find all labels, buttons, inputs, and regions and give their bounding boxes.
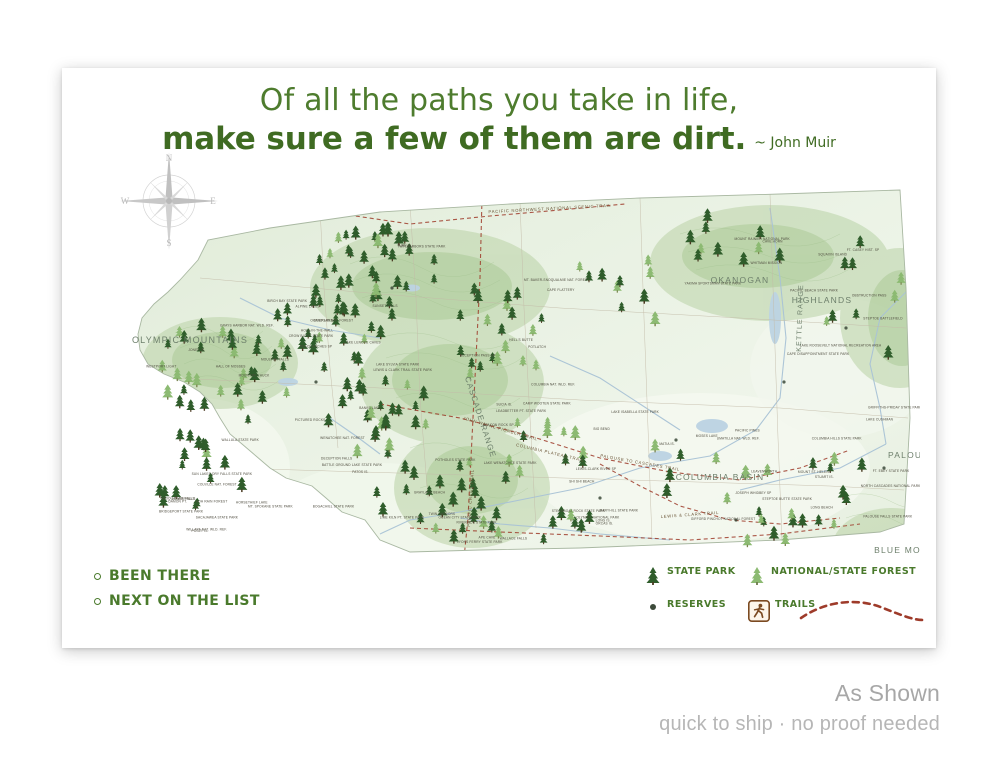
poster-artwork: Of all the paths you take in life, make … [62,68,936,648]
map-place-label: HOLE-IN-THE-WALL [301,329,333,333]
map-place-label: MOUNT PILCHUCK [239,374,270,378]
map-place-label: LEWIS-CLARK RIVER SP [576,467,616,471]
ship-note-label: quick to ship · no proof needed [659,713,940,736]
legend-label-national-state-forest: NATIONAL/STATE FOREST [768,566,916,578]
dark-tree-icon [642,566,664,585]
map-place-label: LAKE ROOSEVELT NATIONAL RECREATION AREA [800,343,882,347]
map-place-label: MATIA IS. [659,442,674,446]
map-place-label: BATTLE GROUND LAKE STATE PARK [322,463,383,467]
map-place-label: BOGACHIEL STATE PARK [313,505,355,509]
legend-item-national-state-forest: NATIONAL/STATE FOREST [746,566,922,585]
map-place-label: SUCIA IS. [496,403,512,407]
map-place-label: OBSTRUCTION PASS [852,294,887,298]
map-place-label: CAPE DISAPPOINTMENT STATE PARK [787,352,850,356]
map-place-label: MT. BAKER-SNOQUALMIE NAT. FOREST [524,278,589,282]
map-svg: OLYMPIC MOUNTAINSOKANOGANHIGHLANDSKETTLE… [80,168,920,588]
map-place-label: SACAJAWEA STATE PARK [196,516,239,520]
map-place-label: LIME KILN PT. STATE PARK [380,516,425,520]
state-park-tree-icon [175,395,185,409]
legend-label-reserves: RESERVES [664,599,726,611]
map-place-label: FT. EBEY STATE PARK [873,469,910,473]
legend-item-state-park: STATE PARK [642,566,746,585]
map-place-label: COLUMBIA NAT. WLD. REF. [531,383,575,387]
map-place-label: SUN LAKES-DRY FALLS STATE PARK [192,472,253,476]
map-place-label: ALPINE LAKES [296,304,320,308]
as-shown-label: As Shown [659,680,940,707]
map-place-label: STEPTOE BUTTE STATE PARK [762,497,812,501]
map-place-label: MOSES LAKE [696,434,718,438]
map-place-label: GIFFORD PINCHOT NATIONAL FOREST [691,517,755,521]
map-place-label: SUNSET FALLS [373,304,398,308]
legend-label-next-on-the-list: NEXT ON THE LIST [109,593,260,609]
map-place-label: DECEPTION PASS SP [460,354,495,358]
legend-label-state-park: STATE PARK [664,566,736,578]
map-place-label: MOUNT ST. HELENS [798,470,831,474]
map-place-label: STUART IS. [815,475,834,479]
map-place-label: HALL OF MOSSES [216,365,246,369]
map-place-label: BIRCH BAY STATE PARK [267,299,308,303]
map-place-label: POTHOLES STATE PARK [435,458,476,462]
map-place-label: CAVE HORN [763,240,784,244]
state-park-tree-icon [202,457,212,471]
compass-north-label: N [166,153,173,163]
map-place-label: NORTH CASCADES NATIONAL PARK [861,484,920,488]
state-park-tree-icon [186,399,195,412]
map-place-label: LAKE CUSHMAN [866,417,893,421]
map-region-label: BLUE MOUNTAINS [874,545,920,555]
map-place-label: LONG IS. [596,519,611,523]
map-place-label: APE CAVE [479,535,496,539]
map-place-label: CROW BUTTE STATE PARK [289,334,334,338]
map-place-label: SHI SHI BEACH [569,480,595,484]
state-park-tree-icon [236,477,247,492]
map-place-label: WESTPORT LIGHT [146,364,176,368]
circle-outline-marker-icon [94,573,101,580]
map-place-label: LAKE WENATCHEE STATE PARK [484,461,538,465]
map-place-label: LAKE SYLVIA STATE PARK [376,363,420,367]
map-place-label: WHITMAN MISSION [750,261,782,265]
quote-author: ~ John Muir [754,135,836,151]
map-place-label: LAKE ISABELLA STATE PARK [611,410,659,414]
legend-item-next-on-the-list: NEXT ON THE LIST [94,593,260,609]
map-place-label: WENATCHEE NAT. FOREST [320,436,365,440]
map-region-label: OLYMPIC MOUNTAINS [132,335,248,345]
map-place-label: YAKIMA SPORTSMAN STATE PARK [685,281,742,285]
map-place-label: CAMP WOOTEN STATE PARK [523,402,571,406]
map-place-label: FT. CASEY HIST. SP [847,248,880,252]
map-region-label: PALOUSE [888,450,920,460]
map-place-label: HOH RAIN FOREST [196,500,228,504]
map-place-label: PICTURED ROCKS [295,418,326,422]
map-place-label: MARYHILL STATE PARK [600,508,639,512]
legend-item-been-there: BEEN THERE [94,568,260,584]
map-region-label: COLUMBIA BASIN [676,472,765,482]
legend-map-symbols: STATE PARK NATIONAL/STATE FOREST RESERVE… [642,566,922,622]
state-park-tree-icon [180,447,190,461]
map-place-label: LONG BEACH [811,505,834,509]
map-place-label: TWIN HARBORS STATE PARK [397,245,446,249]
map-place-label: STEPTOE BATTLEFIELD [863,317,903,321]
map-place-label: BRIDGEPORT STATE PARK [159,509,204,513]
map-place-label: PATOS IS. [352,470,368,474]
map-place-label: PEACE ARCHES SP [300,344,332,348]
map-place-label: UMATILLA NAT. WLD. REF. [717,436,760,440]
circle-outline-marker-icon [94,598,101,605]
map-place-label: PACIFIC BEACH STATE PARK [790,288,839,292]
map-place-label: LOWER FALLS [172,497,196,501]
map-place-label: HELL'S BUTTE [509,338,533,342]
map-place-label: WILLAPA NAT. WLD. REF. [186,527,227,531]
map-place-label: WALLULA STATE PARK [222,438,260,442]
legend-label-been-there: BEEN THERE [109,568,211,584]
map-place-label: COLVILLE NAT. FOREST [197,482,236,486]
map-place-label: MT. SPOKANE STATE PARK [248,505,293,509]
washington-state-map: OLYMPIC MOUNTAINSOKANOGANHIGHLANDSKETTLE… [80,168,920,588]
map-place-label: LYONS FERRY STATE PARK [457,540,503,544]
map-place-label: PACIFIC PINES [735,429,760,433]
map-place-label: LAKE LENORE CAVES [345,341,381,345]
hiker-icon [746,599,772,622]
map-place-label: MOULTON FALLS [261,358,289,362]
map-place-label: DEEP LAKE [314,319,333,323]
map-place-label: SQUAXIN ISLAND [818,253,847,257]
map-place-label: BIG BEND [593,427,610,431]
map-place-label: COLUMBIA HILLS STATE PARK [812,436,863,440]
map-place-label: POTLATCH [528,345,547,349]
legend-item-reserves: RESERVES [642,599,746,622]
state-park-tree-icon [180,384,188,395]
state-park-tree-icon [220,455,231,470]
map-place-label: WALLACE FALLS [500,536,528,540]
state-park-tree-icon [185,429,195,442]
state-park-tree-icon [179,460,186,470]
map-place-label: HORSETHIEF LAKE [236,501,268,505]
forest-tree-icon [162,384,173,399]
quote-line-2: make sure a few of them are dirt. [162,120,746,159]
map-place-label: CAPE FLATTERY [547,288,575,292]
map-place-label: JONES IS. [188,348,205,352]
map-place-label: GRAYLAND BEACH [414,491,446,495]
product-footer: As Shown quick to ship · no proof needed [659,680,940,736]
map-place-label: STEAMBOAT ROCK STATE PARK [552,509,606,513]
map-place-label: GRAYS HARBOR NAT. WLD. REF. [220,324,274,328]
map-place-label: RIVERSIDE STATE PARK [456,520,497,524]
dot-icon [642,599,664,610]
map-place-label: TWIN HARBORS [429,512,456,516]
map-place-label: LEAVENWORTH [751,469,778,473]
map-place-label: BANKS LAKE [359,406,380,410]
light-tree-icon [746,566,768,585]
map-place-label: PALOUSE FALLS STATE PARK [863,515,913,519]
map-place-label: LEWIS & CLARK TRAIL STATE PARK [373,368,432,372]
map-place-label: GRIFFITHS-PRIDAY STATE PARK [868,406,920,410]
map-place-label: LEADBETTER PT. STATE PARK [496,409,547,413]
map-place-label: DECEPTION FALLS [321,457,352,461]
state-park-tree-icon [175,428,184,441]
map-place-label: OCEAN CITY STATE PARK [439,516,482,520]
legend-visited: BEEN THERE NEXT ON THE LIST [94,568,260,618]
trail-dashed-curve-icon [797,596,927,626]
map-place-label: JOSEPH WHIDBEY SP [735,491,771,495]
quote-line-1: Of all the paths you take in life, [62,86,936,116]
